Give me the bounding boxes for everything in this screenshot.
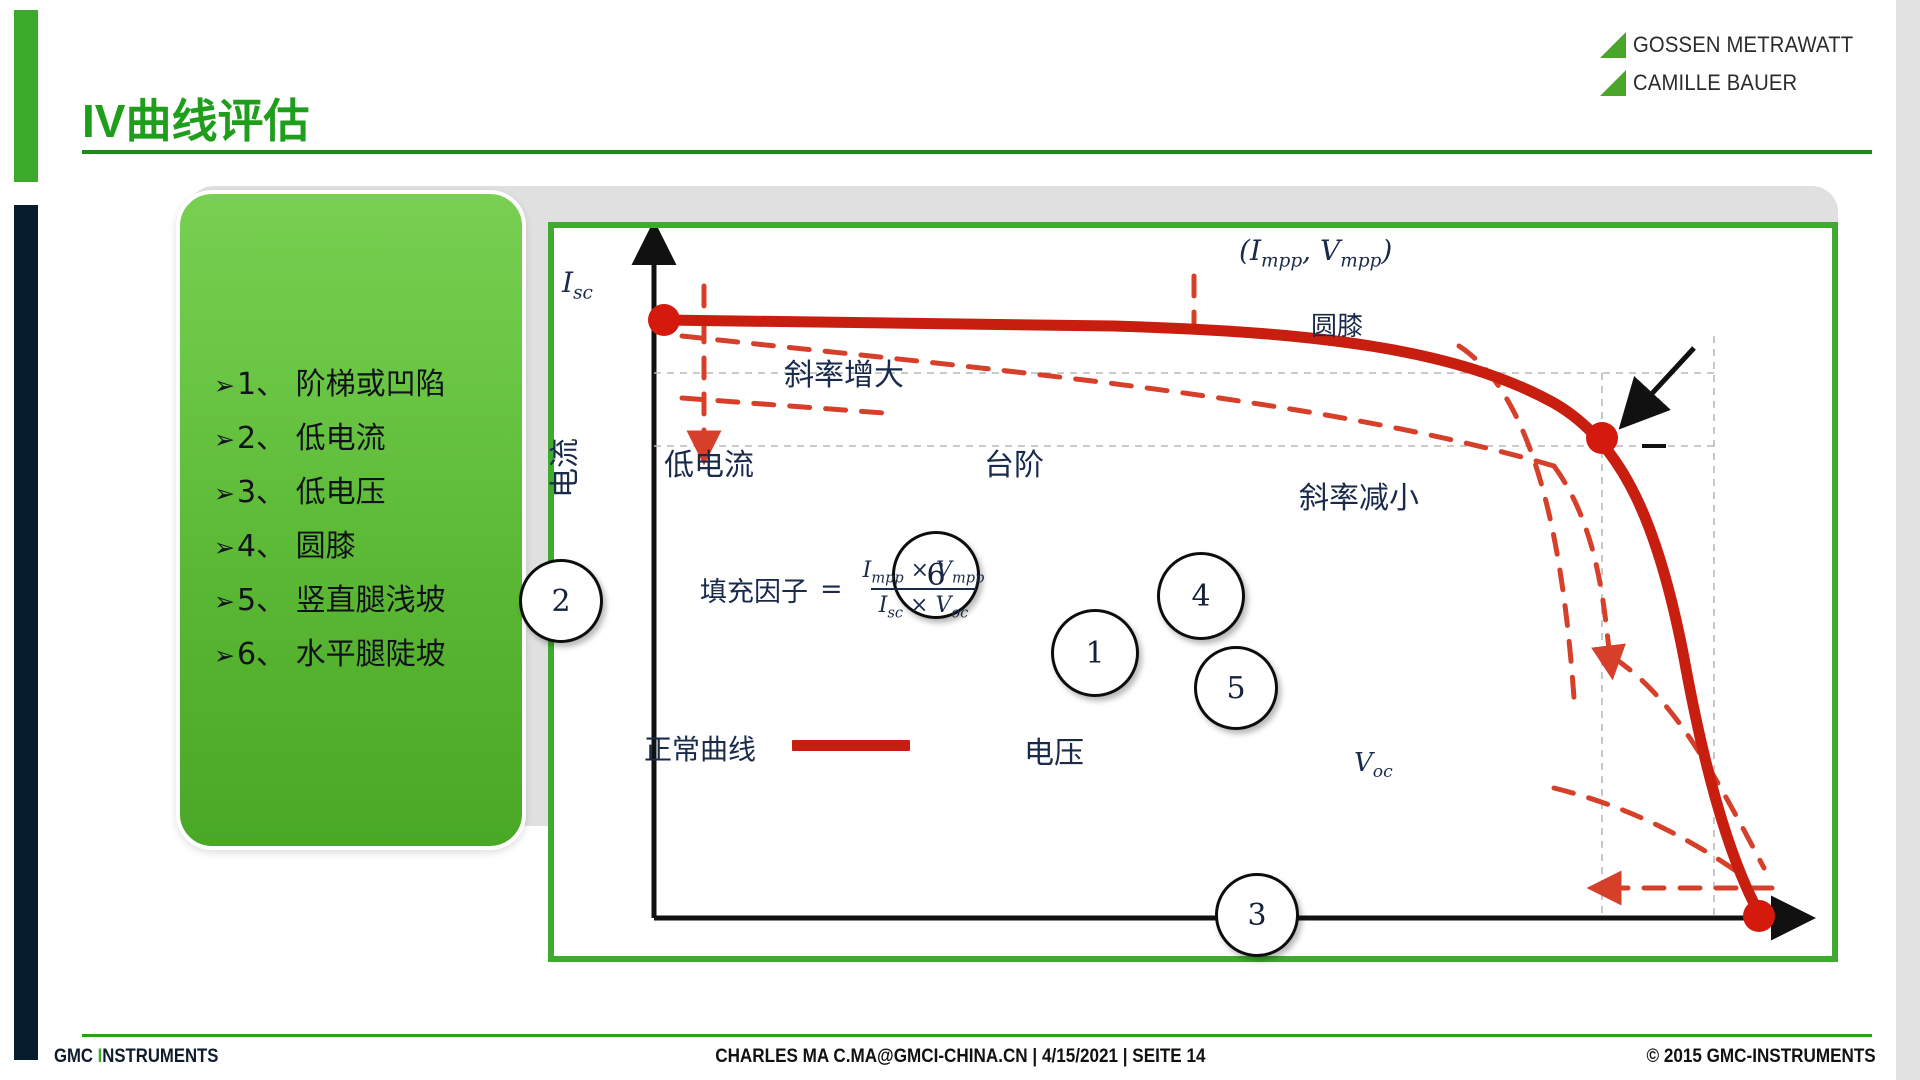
- list-item-label: 5、 竖直腿浅坡: [237, 586, 446, 616]
- footer-copyright: © 2015 GMC-INSTRUMENTS: [1647, 1046, 1876, 1068]
- callout-number: 1: [1085, 636, 1104, 671]
- brand-row-gossen-metrawatt: GOSSEN METRAWATT: [1600, 32, 1873, 58]
- mpp-point-marker: [1586, 422, 1618, 454]
- chart-canvas: Isc Voc (Impp, Vmpp) 圆膝 低电流 斜率增大 台阶 斜率减小…: [554, 228, 1832, 956]
- arrow-bullet-icon: ➢: [214, 481, 235, 506]
- left-green-accent-bar: [14, 10, 38, 182]
- brand-name-camille-bauer: CAMILLE BAUER: [1633, 70, 1797, 96]
- callout-bubble-3[interactable]: 3: [1215, 873, 1299, 957]
- callout-number: 3: [1247, 898, 1266, 933]
- brand-logo-block: GOSSEN METRAWATT CAMILLE BAUER: [1600, 32, 1873, 96]
- arrow-bullet-icon: ➢: [214, 535, 235, 560]
- arrow-bullet-icon: ➢: [214, 427, 235, 452]
- callout-bubble-4[interactable]: 4: [1157, 552, 1245, 640]
- list-item: ➢ 6、 水平腿陡坡: [214, 640, 522, 670]
- voc-point-marker: [1743, 900, 1775, 932]
- callout-bubble-1[interactable]: 1: [1051, 609, 1139, 697]
- right-gray-edge-bar: [1896, 0, 1920, 1080]
- callout-bubble-5[interactable]: 5: [1194, 646, 1278, 730]
- brand-name-gossen-metrawatt: GOSSEN METRAWATT: [1633, 32, 1853, 58]
- defect-type-list-panel: ➢ 1、 阶梯或凹陷 ➢ 2、 低电流 ➢ 3、 低电压 ➢ 4、 圆膝 ➢ 5…: [176, 190, 526, 850]
- footer-author-meta: CHARLES MA C.MA@GMCI-CHINA.CN | 4/15/202…: [0, 1046, 1920, 1068]
- arrow-bullet-icon: ➢: [214, 589, 235, 614]
- brand-row-camille-bauer: CAMILLE BAUER: [1600, 70, 1812, 96]
- fill-factor-formula: 填充因子 = Impp × Vmpp Isc × Voc: [700, 558, 992, 622]
- legend-swatch-normal-curve: [792, 740, 910, 751]
- mpp-callout-arrow: [1622, 348, 1694, 426]
- green-triangle-icon: [1600, 32, 1626, 58]
- title-underline-divider: [82, 150, 1872, 154]
- page-title: IV曲线评估: [82, 85, 309, 151]
- callout-number: 5: [1226, 671, 1245, 706]
- formula-equals: =: [820, 574, 843, 605]
- formula-fraction: Impp × Vmpp Isc × Voc: [855, 558, 993, 622]
- green-triangle-icon: [1600, 70, 1626, 96]
- list-item-label: 4、 圆膝: [237, 532, 356, 562]
- list-item: ➢ 5、 竖直腿浅坡: [214, 586, 522, 616]
- list-item-label: 3、 低电压: [237, 478, 386, 508]
- list-item-label: 6、 水平腿陡坡: [237, 640, 446, 670]
- list-item: ➢ 2、 低电流: [214, 424, 522, 454]
- left-dark-accent-bar: [14, 205, 38, 1060]
- arrow-bullet-icon: ➢: [214, 373, 235, 398]
- formula-label: 填充因子: [700, 570, 808, 609]
- formula-numerator: Impp × Vmpp: [855, 558, 993, 588]
- list-item: ➢ 3、 低电压: [214, 478, 522, 508]
- list-item: ➢ 1、 阶梯或凹陷: [214, 370, 522, 400]
- list-item-label: 2、 低电流: [237, 424, 386, 454]
- callout-number: 4: [1191, 579, 1210, 614]
- arrow-bullet-icon: ➢: [214, 643, 235, 668]
- isc-point-marker: [648, 304, 680, 336]
- formula-denominator: Isc × Voc: [871, 588, 976, 621]
- list-item: ➢ 4、 圆膝: [214, 532, 522, 562]
- footer-divider: [82, 1034, 1872, 1037]
- iv-curve-chart-frame: Isc Voc (Impp, Vmpp) 圆膝 低电流 斜率增大 台阶 斜率减小…: [548, 222, 1838, 962]
- callout-number: 2: [551, 584, 570, 619]
- list-item-label: 1、 阶梯或凹陷: [237, 370, 446, 400]
- callout-bubble-2[interactable]: 2: [519, 559, 603, 643]
